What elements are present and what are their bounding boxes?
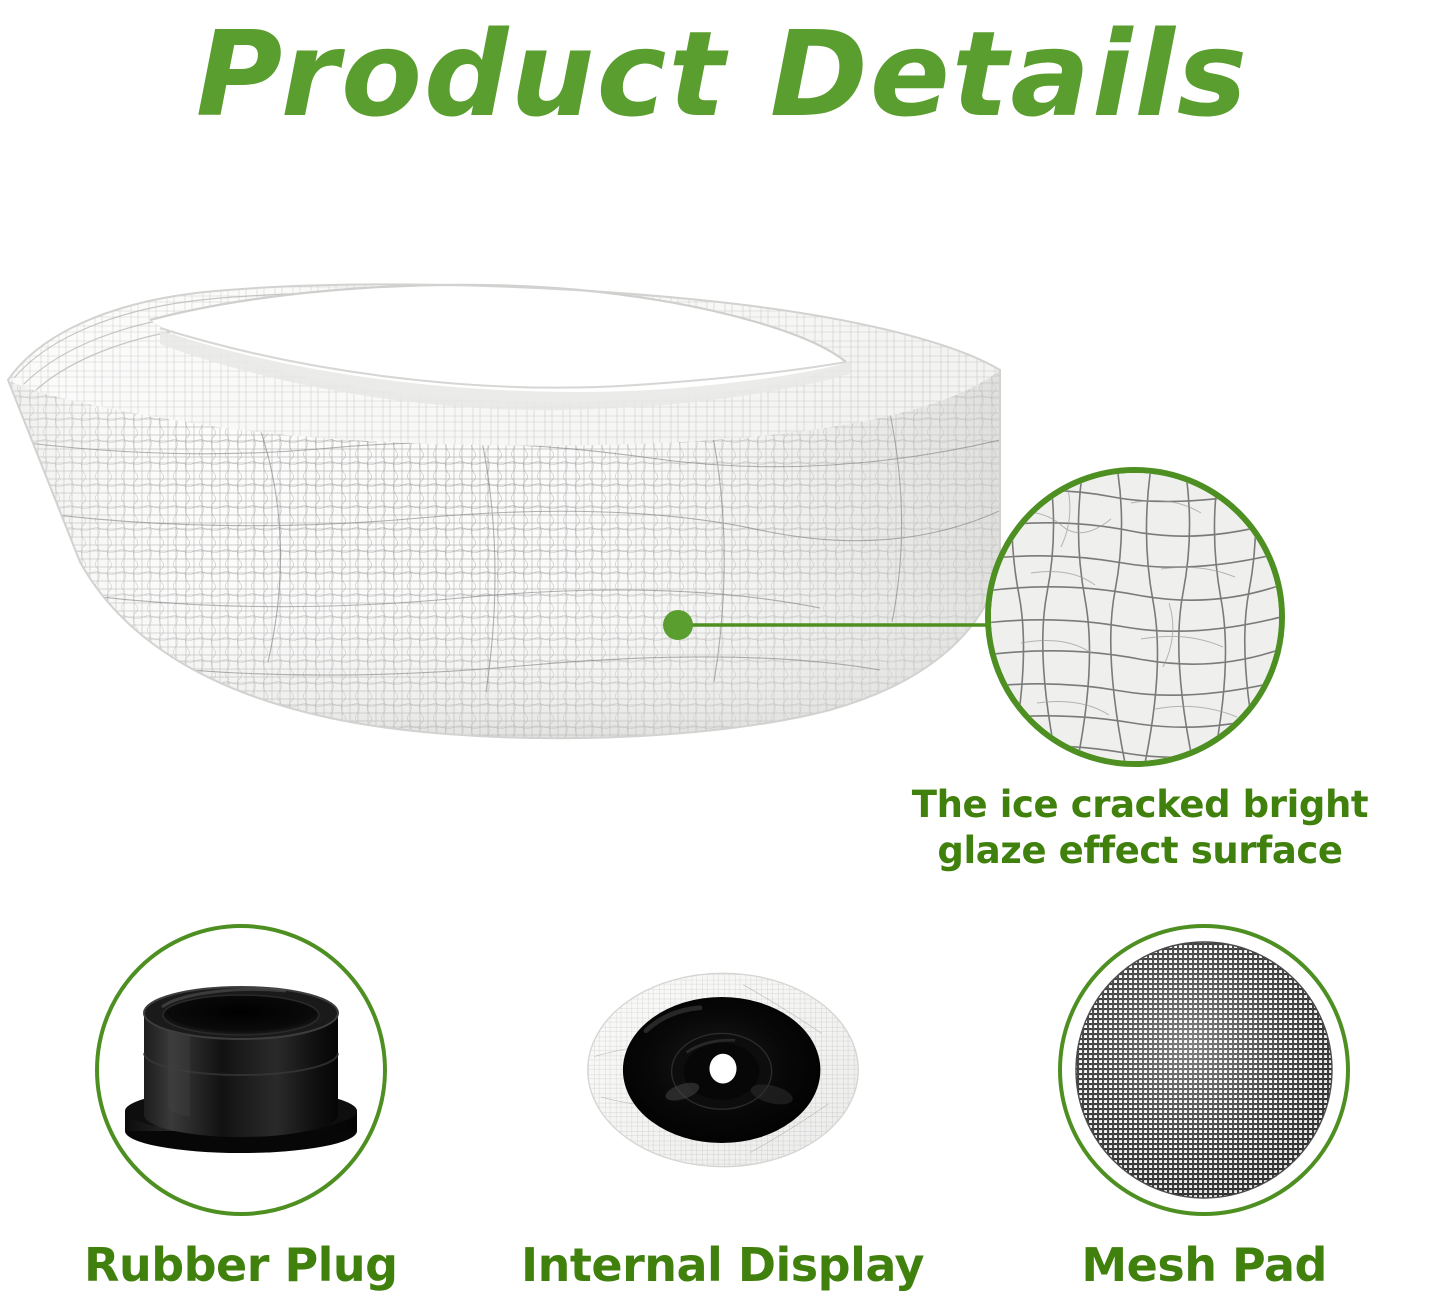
- bowl-illustration: [0, 262, 1035, 762]
- mesh-pad-photo: [1072, 938, 1336, 1202]
- feature-internal-display: Internal Display: [482, 900, 964, 1312]
- callout-text: The ice cracked bright glaze effect surf…: [845, 782, 1435, 873]
- page-title: Product Details: [0, 8, 1445, 140]
- feature-mesh-pad: Mesh Pad: [963, 900, 1445, 1312]
- internal-display-ring: [577, 924, 869, 1216]
- callout-line-1: The ice cracked bright: [845, 782, 1435, 828]
- rubber-plug-photo: [106, 935, 376, 1205]
- connector-dot: [663, 610, 693, 640]
- callout-connector: [660, 600, 1020, 650]
- feature-label-rubber-plug: Rubber Plug: [84, 1238, 398, 1292]
- feature-rubber-plug: Rubber Plug: [0, 900, 482, 1312]
- rubber-plug-ring: [95, 924, 387, 1216]
- crackle-detail-magnifier: [985, 467, 1285, 767]
- feature-label-internal-display: Internal Display: [521, 1238, 924, 1292]
- crackle-texture-zoom: [991, 473, 1281, 763]
- feature-row: Rubber Plug: [0, 900, 1445, 1312]
- hero-product-image: [0, 262, 1035, 762]
- product-details-page: Product Details: [0, 0, 1445, 1312]
- mesh-pad-ring: [1058, 924, 1350, 1216]
- internal-display-photo: [581, 920, 865, 1220]
- feature-label-mesh-pad: Mesh Pad: [1081, 1238, 1327, 1292]
- callout-line-2: glaze effect surface: [845, 828, 1435, 874]
